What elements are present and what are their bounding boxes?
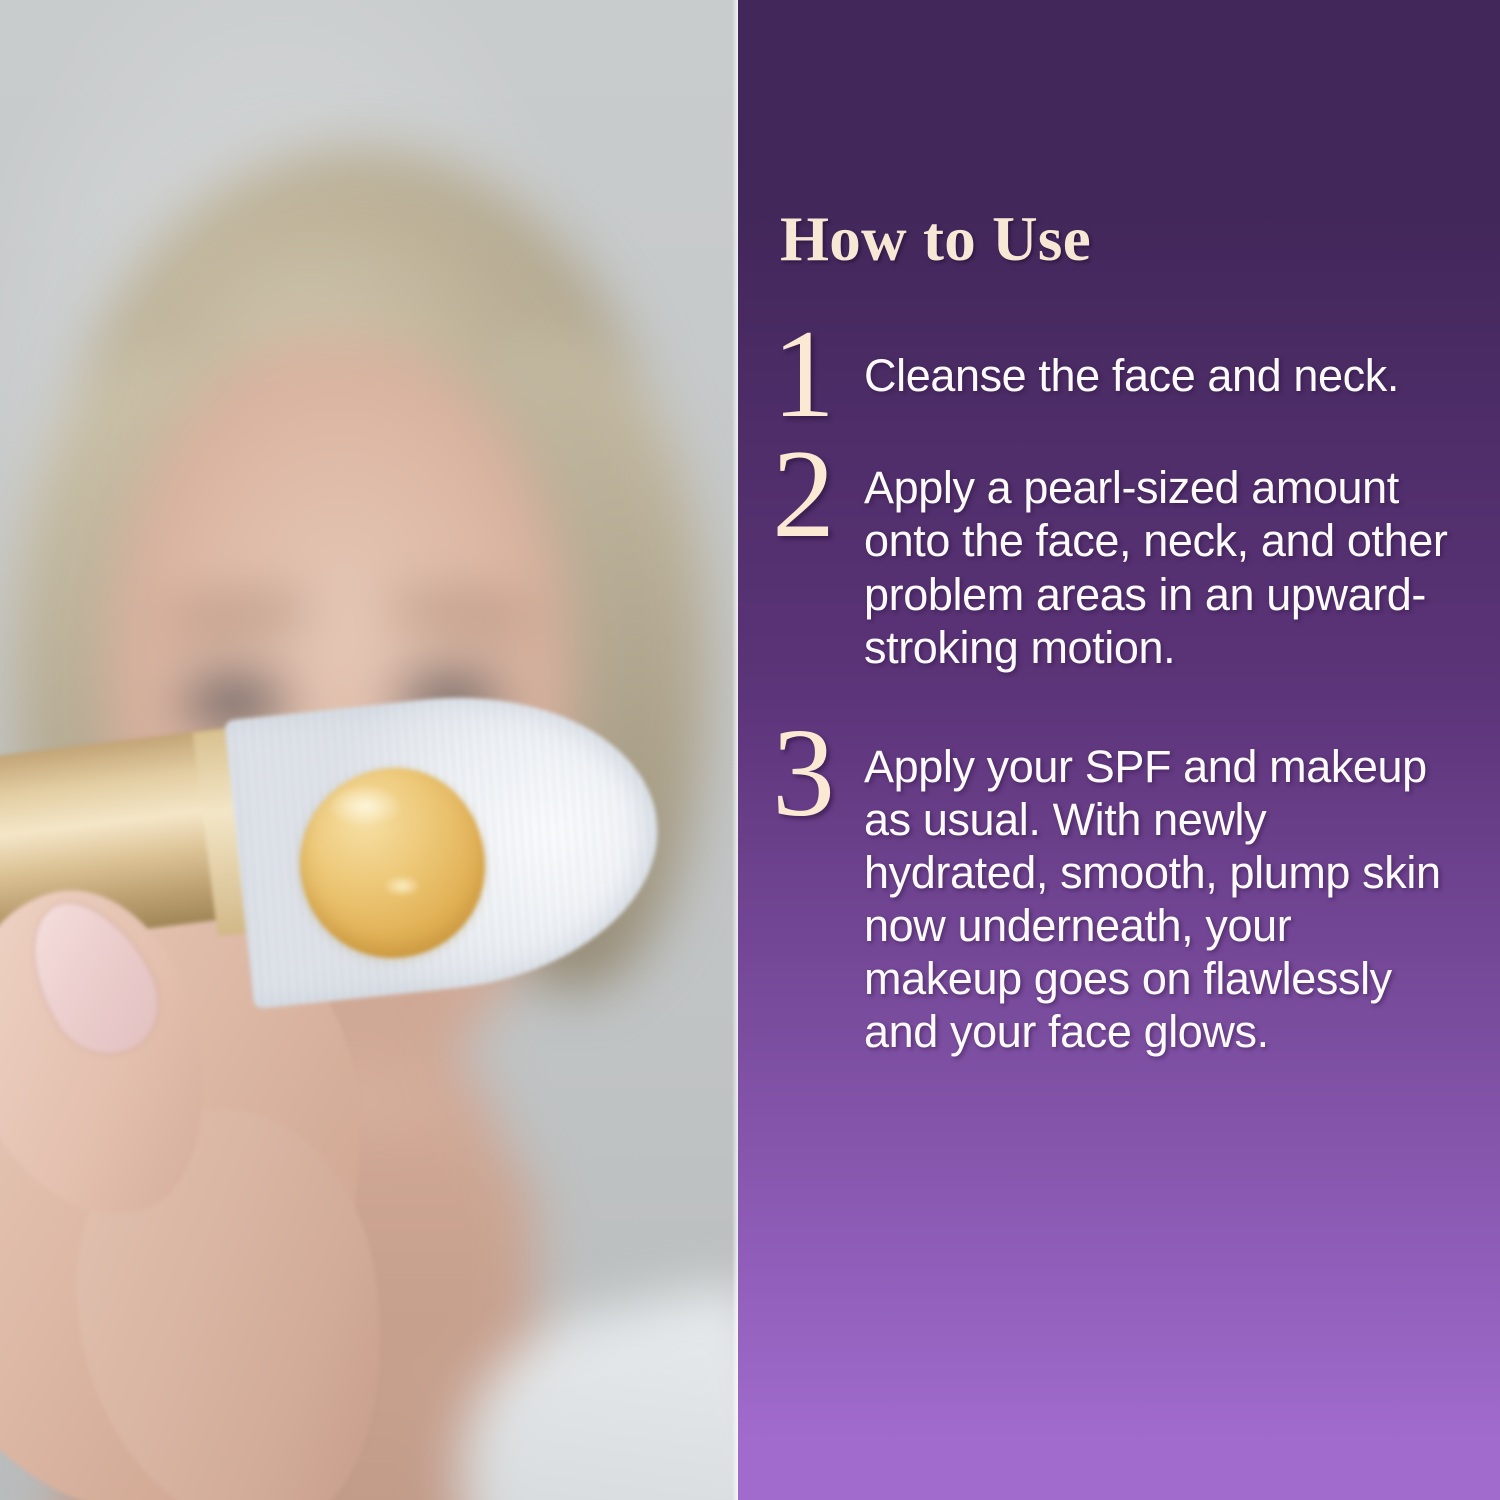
serum-highlight bbox=[330, 786, 400, 826]
step-text: Cleanse the face and neck. bbox=[864, 335, 1460, 402]
step-text: Apply a pearl-sized amount onto the face… bbox=[864, 455, 1460, 673]
list-item: 1 Cleanse the face and neck. bbox=[772, 335, 1460, 429]
steps-list: 1 Cleanse the face and neck. 2 Apply a p… bbox=[762, 335, 1460, 1058]
infographic-root: How to Use 1 Cleanse the face and neck. … bbox=[0, 0, 1500, 1500]
list-item: 3 Apply your SPF and makeup as usual. Wi… bbox=[772, 734, 1460, 1059]
page-title: How to Use bbox=[762, 0, 1460, 271]
step-number: 3 bbox=[772, 720, 864, 828]
serum-drip bbox=[385, 876, 419, 896]
step-text: Apply your SPF and makeup as usual. With… bbox=[864, 734, 1460, 1059]
product-photo bbox=[0, 0, 738, 1500]
step-number: 1 bbox=[772, 321, 864, 429]
list-item: 2 Apply a pearl-sized amount onto the fa… bbox=[772, 455, 1460, 673]
foreground-hand-and-brush bbox=[0, 640, 738, 1500]
step-number: 2 bbox=[772, 441, 864, 549]
how-to-use-panel: How to Use 1 Cleanse the face and neck. … bbox=[738, 0, 1500, 1500]
panel-content: How to Use 1 Cleanse the face and neck. … bbox=[762, 0, 1460, 1058]
